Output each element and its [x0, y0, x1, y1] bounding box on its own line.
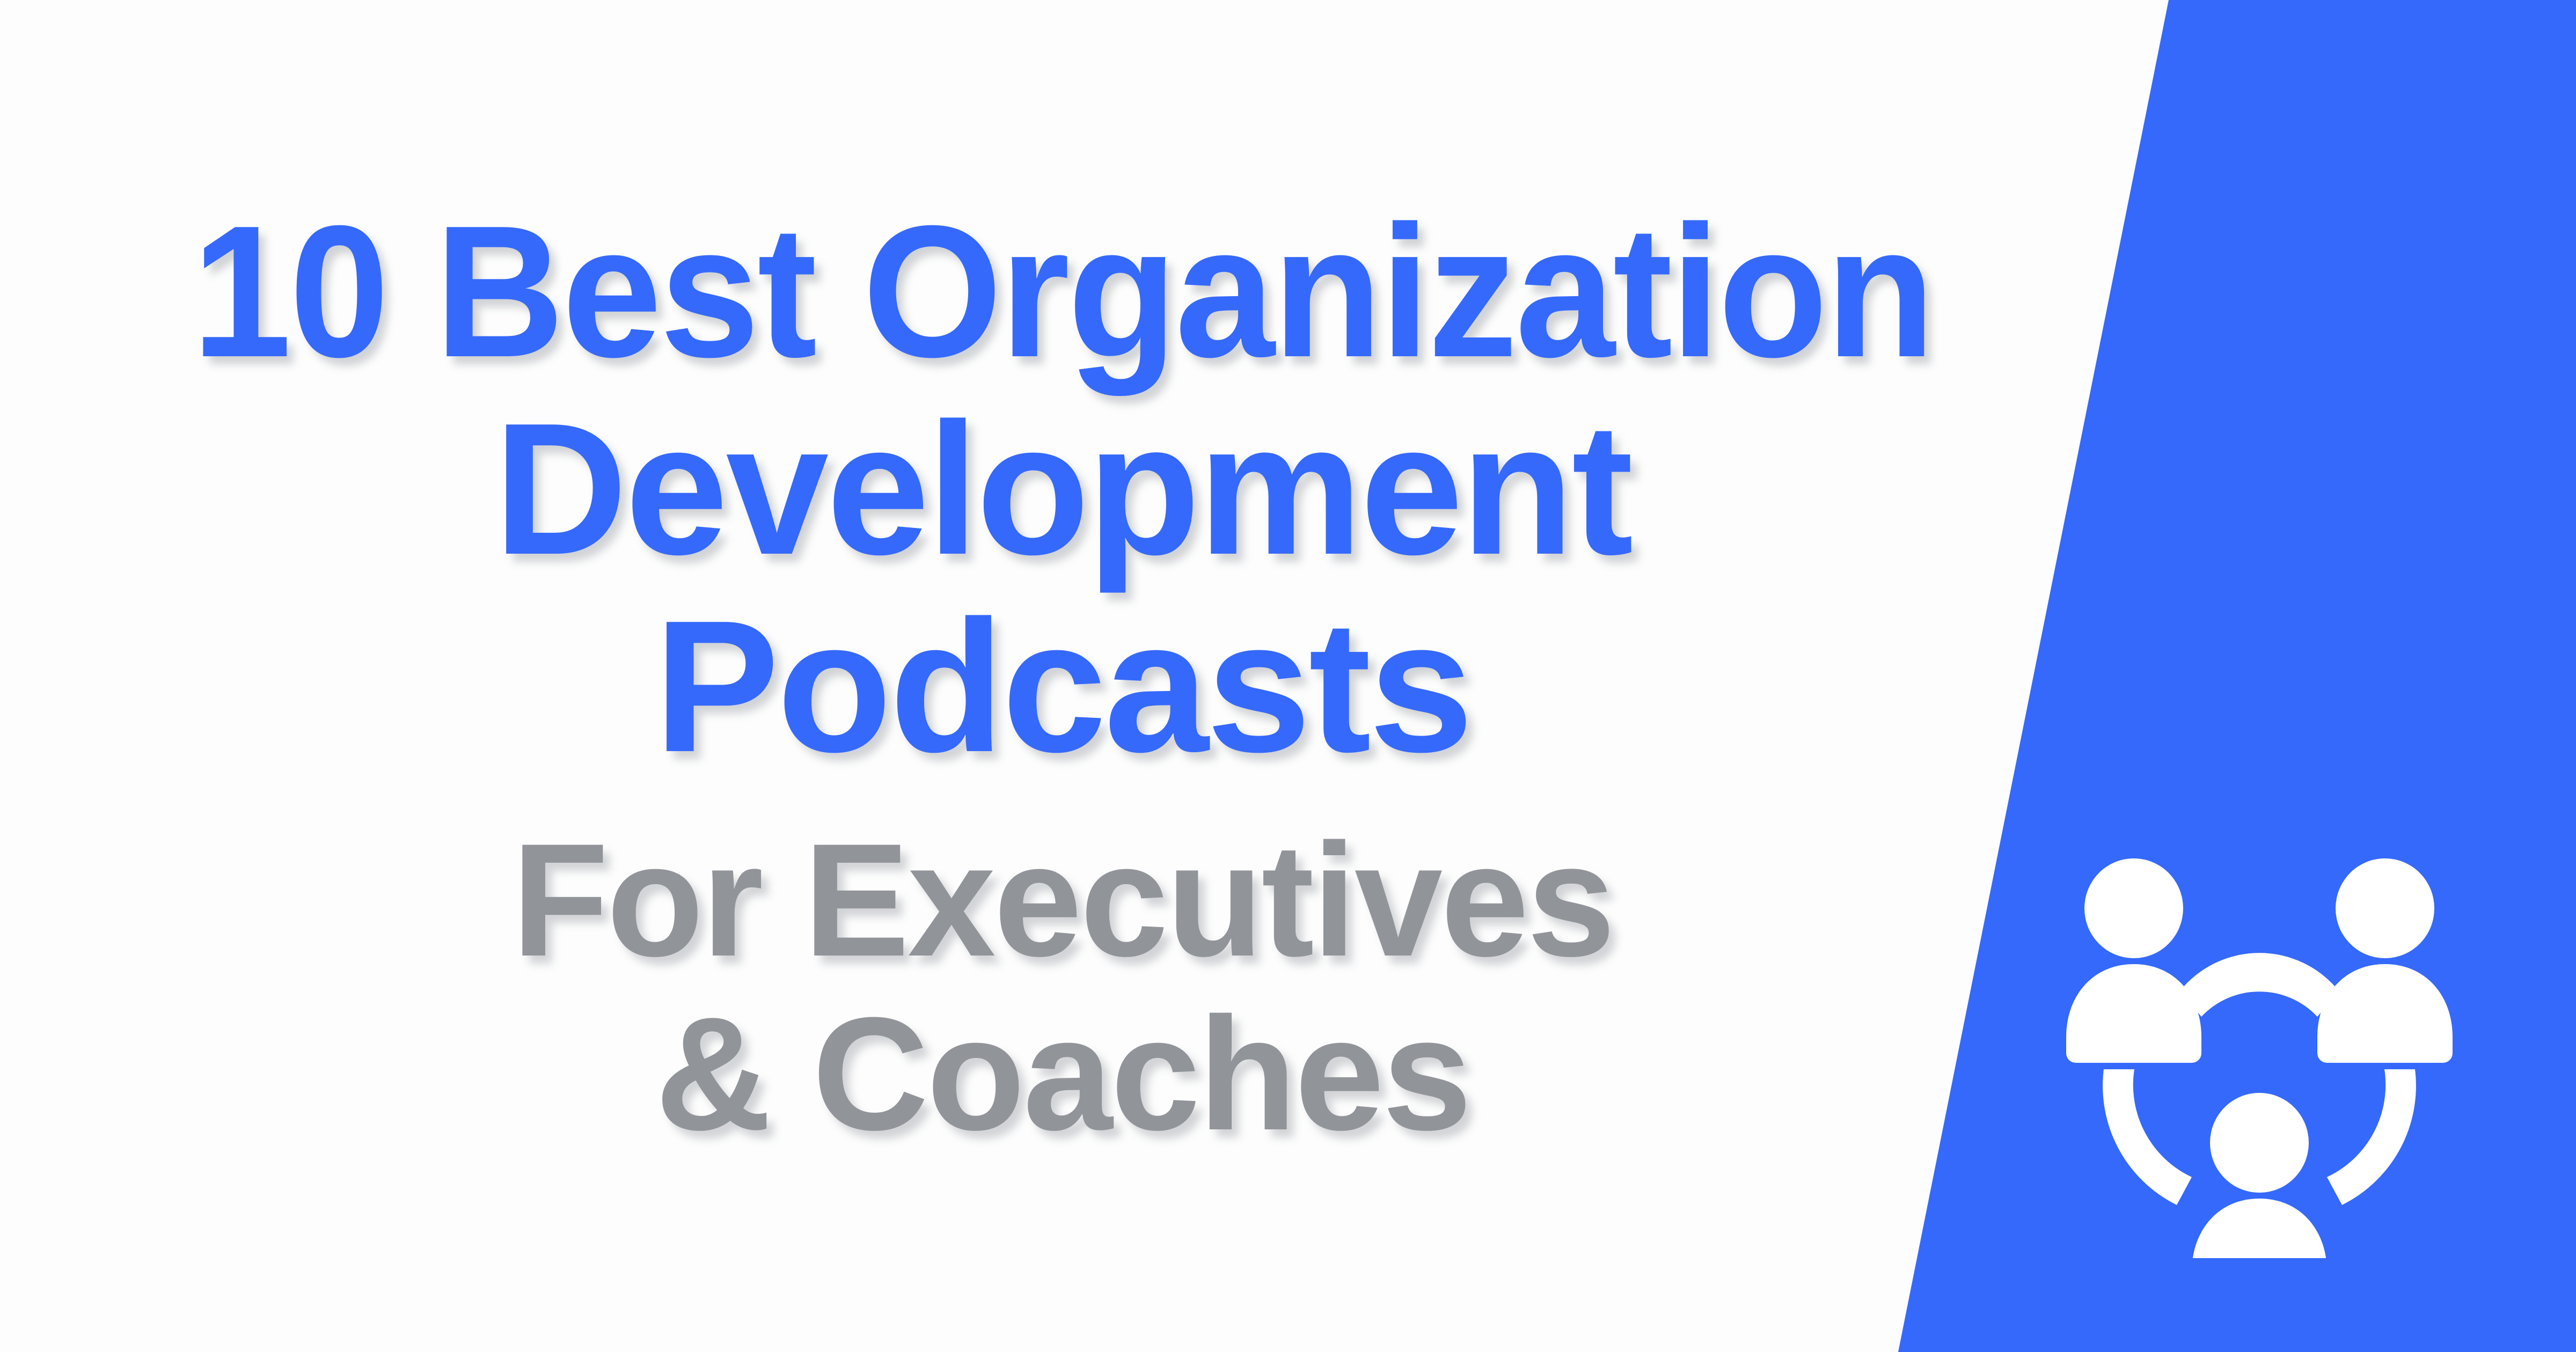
title-line-3: Podcasts [654, 593, 1472, 781]
people-network-icon [2061, 850, 2458, 1258]
headline-block: 10 Best Organization Development Podcast… [0, 0, 2125, 1352]
person-body-top-left [2066, 964, 2201, 1063]
person-head-top-left [2084, 858, 2183, 958]
person-body-bottom [2192, 1199, 2327, 1258]
person-head-top-right [2336, 858, 2434, 958]
subtitle-line-1: For Executives [512, 819, 1614, 980]
person-head-bottom [2210, 1093, 2309, 1193]
arc-right [2327, 1069, 2416, 1205]
subtitle-line-2: & Coaches [655, 993, 1470, 1154]
poster-canvas: 10 Best Organization Development Podcast… [0, 0, 2576, 1352]
person-body-top-right [2317, 964, 2453, 1063]
title-line-2: Development [494, 395, 1631, 583]
title-line-1: 10 Best Organization [192, 198, 1933, 386]
arc-top [2180, 953, 2339, 1017]
arc-left [2103, 1069, 2192, 1205]
